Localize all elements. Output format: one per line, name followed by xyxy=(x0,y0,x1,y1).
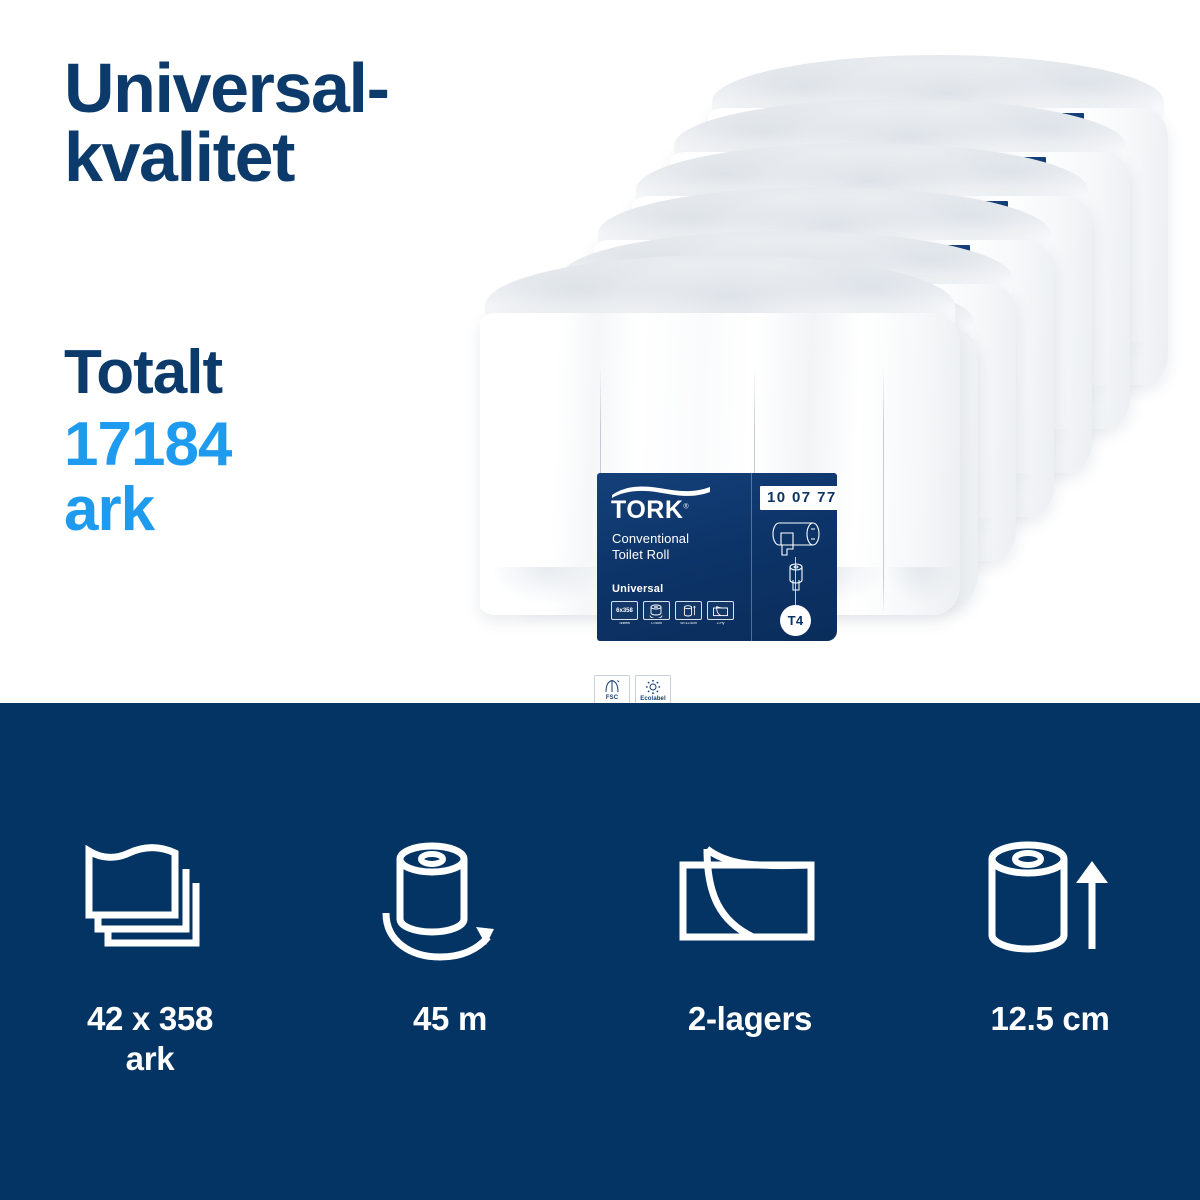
feature-band: 42 x 358 ark 45 m xyxy=(0,703,1200,1200)
spec-chip-ply: 2-Ply xyxy=(707,601,734,625)
pack-1-front: TORK® Conventional Toilet Roll Universal… xyxy=(470,255,970,615)
total-value: 17184 ark xyxy=(64,412,494,543)
product-marketing-image: Universal- kvalitet Totalt 17184 ark xyxy=(0,0,1200,1200)
label-spec-row: 6x358 Sheets xyxy=(611,601,734,625)
roll-length-icon xyxy=(643,601,670,620)
toilet-roll-icon xyxy=(785,561,807,593)
feature-row: 42 x 358 ark 45 m xyxy=(0,703,1200,1200)
fsc-tree-icon xyxy=(603,679,621,695)
spec-chip-width: W=12.5cm xyxy=(675,601,702,625)
toilet-roll-dispenser-icon xyxy=(767,521,825,561)
product-stack-image: TORK® Conventional Toilet Roll Universal… xyxy=(470,55,1200,635)
spec-chip-caption: 2-Ply xyxy=(707,622,734,626)
ecolabel-label: Ecolabel xyxy=(640,696,665,702)
registered-mark: ® xyxy=(683,504,688,511)
fsc-certification: FSC RECYCLED Paper FSC® C003094 xyxy=(594,675,630,703)
feature-label: 12.5 cm xyxy=(991,999,1110,1039)
product-type-text: Conventional Toilet Roll xyxy=(612,531,689,564)
feature-ply: 2-lagers xyxy=(600,703,900,1200)
ecolabel-certification: Ecolabel EU Ecolabel SE/004/001 xyxy=(635,675,671,703)
spec-chip-caption: Sheets xyxy=(611,622,638,626)
spec-chip-sheet-count: 6x358 Sheets xyxy=(611,601,638,625)
spec-chip-length: L=45m xyxy=(643,601,670,625)
feature-label: 45 m xyxy=(413,999,487,1039)
feature-label: 42 x 358 ark xyxy=(87,999,213,1080)
roll-width-icon xyxy=(675,601,702,620)
headline-block: Universal- kvalitet xyxy=(64,54,494,191)
certification-marks: FSC RECYCLED Paper FSC® C003094 xyxy=(594,675,671,703)
article-number: 10 07 77 xyxy=(760,486,837,510)
spec-chip-caption: W=12.5cm xyxy=(675,622,702,626)
dispenser-system-column: T4 xyxy=(757,521,837,639)
product-variant-text: Universal xyxy=(612,583,663,595)
feature-label: 2-lagers xyxy=(688,999,812,1039)
product-label: TORK® Conventional Toilet Roll Universal… xyxy=(597,473,837,641)
top-section: Universal- kvalitet Totalt 17184 ark xyxy=(0,0,1200,703)
feature-width: 12.5 cm xyxy=(900,703,1200,1200)
sheet-count-icon: 6x358 xyxy=(611,601,638,620)
sheet-ply-icon xyxy=(675,831,825,971)
label-divider xyxy=(751,473,752,641)
sheet-stack-icon xyxy=(84,831,216,971)
feature-length: 45 m xyxy=(300,703,600,1200)
tork-logo: TORK® xyxy=(611,484,715,523)
ply-icon xyxy=(707,601,734,620)
fsc-details: RECYCLED Paper FSC® C003094 xyxy=(597,702,626,703)
eu-ecolabel-flower-icon xyxy=(643,679,663,696)
tork-brand-text: TORK xyxy=(611,496,683,524)
spec-chip-caption: L=45m xyxy=(643,622,670,626)
spec-chip-value: 6x358 xyxy=(616,608,633,614)
roll-length-arrow-icon xyxy=(380,831,520,971)
page-title: Universal- kvalitet xyxy=(64,54,494,191)
roll-height-arrow-icon xyxy=(980,831,1120,971)
fsc-label: FSC xyxy=(606,695,618,701)
feature-sheets: 42 x 358 ark xyxy=(0,703,300,1200)
system-badge: T4 xyxy=(780,605,811,636)
total-label: Totalt xyxy=(64,340,494,406)
total-block: Totalt 17184 ark xyxy=(64,340,494,543)
tork-wordmark: TORK® xyxy=(611,498,715,523)
